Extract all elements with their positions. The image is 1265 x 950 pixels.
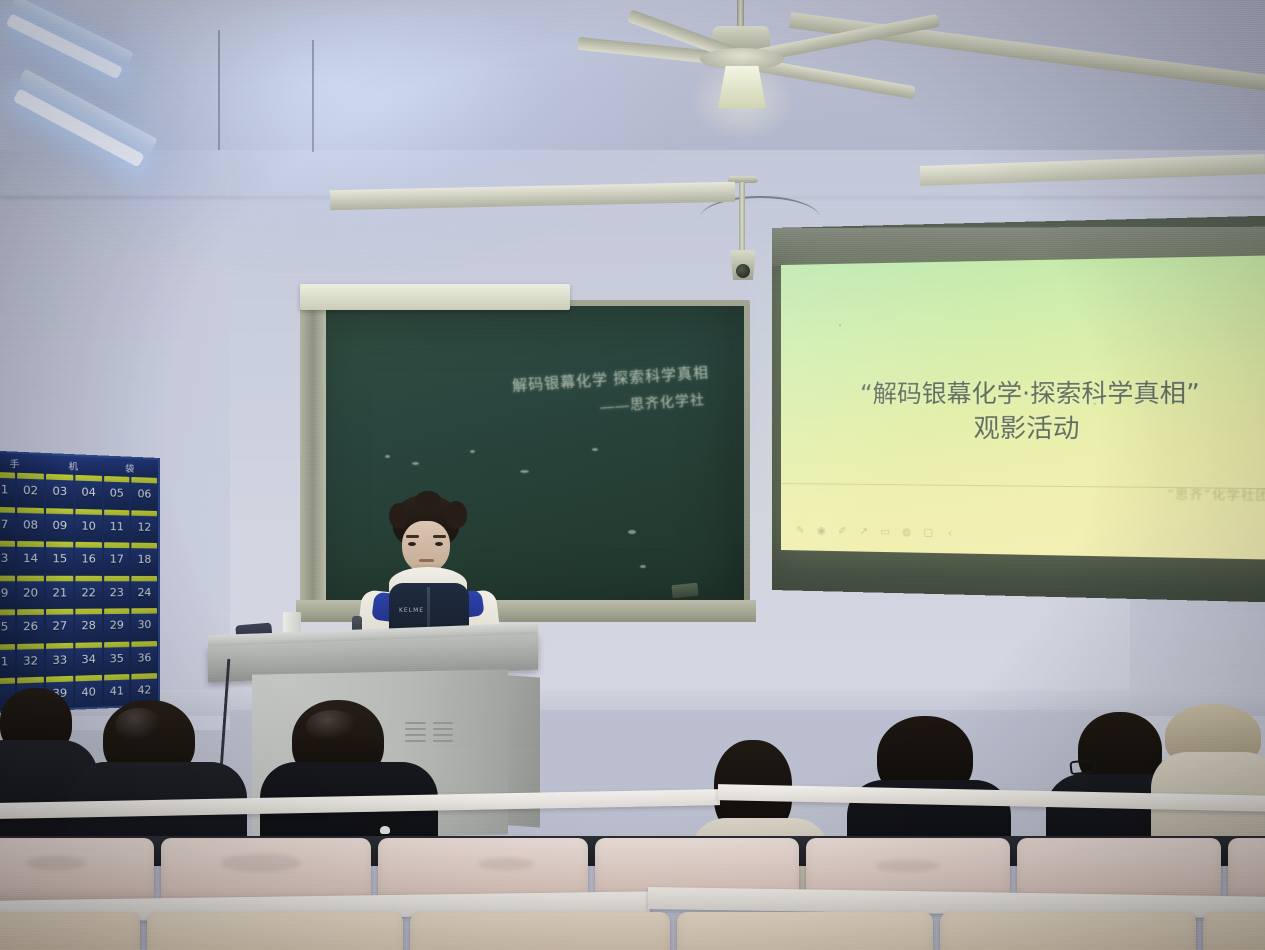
phone-pocket[interactable]: 41 xyxy=(104,674,130,708)
jacket-brand-label: KELME xyxy=(399,607,424,614)
pocket-number: 29 xyxy=(104,618,130,632)
screen-speck xyxy=(1094,403,1096,405)
phone-pocket[interactable]: 22 xyxy=(75,575,101,608)
phone-pocket[interactable]: 25 xyxy=(0,609,15,644)
auditorium-seat[interactable] xyxy=(940,912,1196,950)
pocket-number: 01 xyxy=(0,482,15,497)
pocket-number: 31 xyxy=(0,654,15,668)
screen-speck xyxy=(839,324,841,326)
pocket-number: 35 xyxy=(104,651,130,665)
blackboard-valance xyxy=(300,284,570,310)
tablet-icon[interactable]: ▢ xyxy=(923,527,934,538)
presenter: KELME xyxy=(345,495,530,645)
circle-icon[interactable]: ◉ xyxy=(816,526,827,537)
pocket-number: 40 xyxy=(75,685,101,699)
vent-column xyxy=(405,722,426,748)
phone-pocket[interactable]: 17 xyxy=(104,542,130,575)
camera-lens-icon xyxy=(736,264,750,278)
pocket-number: 09 xyxy=(46,518,73,532)
pocket-number: 36 xyxy=(132,651,157,665)
phone-pocket[interactable]: 07 xyxy=(0,506,15,541)
pocket-number: 22 xyxy=(75,586,101,599)
phone-pocket[interactable]: 01 xyxy=(0,472,15,507)
projector-screen: “解码银幕化学·探索科学真相” 观影活动 “思齐”化学社团 ✎ ◉ ✐ ↗ ▭ … xyxy=(781,255,1265,560)
pocket-number: 07 xyxy=(0,517,15,531)
phone-pocket[interactable]: 23 xyxy=(104,575,130,608)
glasses-icon xyxy=(1069,759,1096,776)
phone-pocket[interactable]: 09 xyxy=(46,508,73,542)
light-suspension-rod xyxy=(312,40,314,152)
presenter-hair xyxy=(445,501,467,529)
phone-pocket[interactable]: 15 xyxy=(46,541,73,575)
chalk-dust xyxy=(640,565,646,568)
pocket-row: 01 02 03 04 05 06 xyxy=(0,472,158,511)
pocket-number: 17 xyxy=(104,552,130,565)
pocket-number: 42 xyxy=(132,683,157,697)
keyboard-icon[interactable]: ▭ xyxy=(880,527,891,538)
auditorium-seat[interactable] xyxy=(147,912,403,950)
pocket-row: 19 20 21 22 23 24 xyxy=(0,575,158,610)
pocket-row: 13 14 15 16 17 18 xyxy=(0,541,158,576)
light-suspension-rod xyxy=(218,30,220,150)
phone-pocket[interactable]: 34 xyxy=(75,642,101,676)
phone-pocket[interactable]: 13 xyxy=(0,541,15,576)
chalk-dust xyxy=(592,448,598,451)
presenter-mouth xyxy=(419,559,434,562)
presenter-eye xyxy=(408,542,416,546)
pocket-number: 02 xyxy=(17,483,44,497)
highlighter-icon[interactable]: ✐ xyxy=(837,526,848,537)
pocket-number: 12 xyxy=(132,520,157,534)
pocket-number: 21 xyxy=(46,586,73,600)
auditorium-seat[interactable] xyxy=(0,912,140,950)
globe-icon[interactable]: ◍ xyxy=(901,527,912,538)
pocket-number: 20 xyxy=(17,586,44,600)
phone-pocket[interactable]: 11 xyxy=(104,509,130,543)
phone-pocket-chart: 手 机 袋 01 02 03 04 05 06 07 08 09 10 11 1… xyxy=(0,450,160,714)
phone-pocket[interactable]: 27 xyxy=(46,609,73,643)
classroom-photo: 解码银幕化学 探索科学真相 ——思齐化学社 “解码银幕化学·探索科学真相” 观影… xyxy=(0,0,1265,950)
phone-pocket[interactable]: 24 xyxy=(132,575,157,608)
auditorium-seat[interactable] xyxy=(1017,838,1221,900)
pocket-row: 25 26 27 28 29 30 xyxy=(0,608,158,644)
chalk-dust xyxy=(520,470,529,473)
phone-pocket[interactable]: 21 xyxy=(46,575,73,609)
pocket-number: 25 xyxy=(0,620,15,634)
pocket-number: 05 xyxy=(104,486,130,500)
phone-pocket[interactable]: 36 xyxy=(132,641,157,674)
phone-pocket[interactable]: 10 xyxy=(75,508,101,542)
blackboard-slide-panel[interactable] xyxy=(300,300,326,620)
pocket-header-char: 手 xyxy=(10,456,22,470)
presenter-brow xyxy=(433,535,446,538)
phone-pocket[interactable]: 16 xyxy=(75,542,101,576)
pocket-number: 03 xyxy=(46,484,73,498)
chalk-dust xyxy=(628,530,636,534)
slide-title-line2: 观影活动 xyxy=(781,411,1265,448)
laser-pointer-icon[interactable]: ↗ xyxy=(858,526,869,537)
pocket-number: 33 xyxy=(46,653,73,667)
pocket-number: 08 xyxy=(17,517,44,531)
pocket-row: 07 08 09 10 11 12 xyxy=(0,506,158,543)
student-hair-highlight xyxy=(115,708,163,742)
phone-pocket[interactable]: 03 xyxy=(46,474,73,508)
pocket-number: 18 xyxy=(132,553,157,566)
phone-pocket[interactable]: 12 xyxy=(132,510,157,543)
chalk-dust xyxy=(385,455,390,458)
phone-pocket[interactable]: 04 xyxy=(75,475,101,509)
phone-pocket[interactable]: 19 xyxy=(0,575,15,609)
auditorium-seat[interactable] xyxy=(0,838,154,900)
pocket-header-char: 袋 xyxy=(125,461,136,475)
auditorium-seat[interactable] xyxy=(1203,912,1265,950)
pocket-number: 34 xyxy=(75,652,101,666)
phone-pocket[interactable]: 08 xyxy=(17,507,44,542)
pocket-number: 26 xyxy=(17,619,44,633)
phone-pocket[interactable]: 40 xyxy=(75,675,101,709)
presenter-brow xyxy=(406,535,419,538)
pocket-number: 19 xyxy=(0,586,15,600)
phone-pocket[interactable]: 35 xyxy=(104,641,130,675)
pocket-number: 16 xyxy=(75,552,101,566)
pocket-number: 28 xyxy=(75,619,101,633)
pocket-number: 04 xyxy=(75,485,101,499)
phone-pocket[interactable]: 05 xyxy=(104,476,130,510)
presenter-hair xyxy=(389,503,409,529)
pocket-number: 30 xyxy=(132,618,157,631)
camera-pole xyxy=(739,182,745,254)
phone-pocket[interactable]: 33 xyxy=(46,642,73,676)
pen-icon[interactable]: ✎ xyxy=(795,525,806,536)
vent-column xyxy=(433,722,454,748)
collapse-icon[interactable]: ‹ xyxy=(944,528,955,539)
slide-subtitle: “思齐”化学社团 xyxy=(1167,485,1265,504)
pocket-number: 14 xyxy=(17,552,44,566)
seat-row-foreground xyxy=(0,912,1265,950)
pocket-number: 23 xyxy=(104,586,130,599)
presenter-eye xyxy=(435,542,443,546)
phone-pocket[interactable]: 26 xyxy=(17,609,44,643)
fan-light-fixture xyxy=(718,66,766,108)
phone-pocket[interactable]: 30 xyxy=(132,608,157,641)
pocket-number: 27 xyxy=(46,619,73,633)
phone-pocket[interactable]: 02 xyxy=(17,473,44,508)
presentation-toolbar[interactable]: ✎ ◉ ✐ ↗ ▭ ◍ ▢ ‹ xyxy=(795,525,956,539)
pocket-number: 10 xyxy=(75,519,101,533)
pocket-number: 41 xyxy=(104,684,130,698)
chalk-dust xyxy=(412,462,419,465)
student-hair-highlight xyxy=(306,710,358,742)
presenter-hair xyxy=(415,491,441,509)
phone-pocket[interactable]: 14 xyxy=(17,541,44,575)
phone-pocket[interactable]: 32 xyxy=(17,643,44,678)
auditorium-seat[interactable] xyxy=(1228,838,1265,900)
chalk-dust xyxy=(470,450,475,453)
phone-pocket[interactable]: 31 xyxy=(0,644,15,679)
slide-title-line1: “解码银幕化学·探索科学真相” xyxy=(781,375,1265,411)
podium-vent-grille xyxy=(405,722,453,748)
pocket-number: 24 xyxy=(132,586,157,599)
auditorium-seat[interactable] xyxy=(410,912,670,950)
blackboard-eraser[interactable] xyxy=(671,583,698,599)
pocket-number: 06 xyxy=(132,487,157,501)
pocket-number: 11 xyxy=(104,519,130,533)
phone-pocket[interactable]: 28 xyxy=(75,609,101,643)
slide-title: “解码银幕化学·探索科学真相” 观影活动 xyxy=(781,375,1265,448)
phone-pocket[interactable]: 18 xyxy=(132,543,157,576)
phone-pocket[interactable]: 20 xyxy=(17,575,44,609)
pocket-number: 13 xyxy=(0,551,15,565)
phone-pocket[interactable]: 29 xyxy=(104,608,130,641)
wall-baseline xyxy=(0,690,1265,716)
pocket-header-char: 机 xyxy=(69,459,80,473)
phone-pocket[interactable]: 06 xyxy=(132,477,157,510)
auditorium-seat[interactable] xyxy=(161,838,371,902)
pocket-number: 32 xyxy=(17,653,44,667)
camel-logo-icon xyxy=(380,826,390,834)
pocket-number: 15 xyxy=(46,552,73,566)
auditorium-seat[interactable] xyxy=(677,912,933,950)
